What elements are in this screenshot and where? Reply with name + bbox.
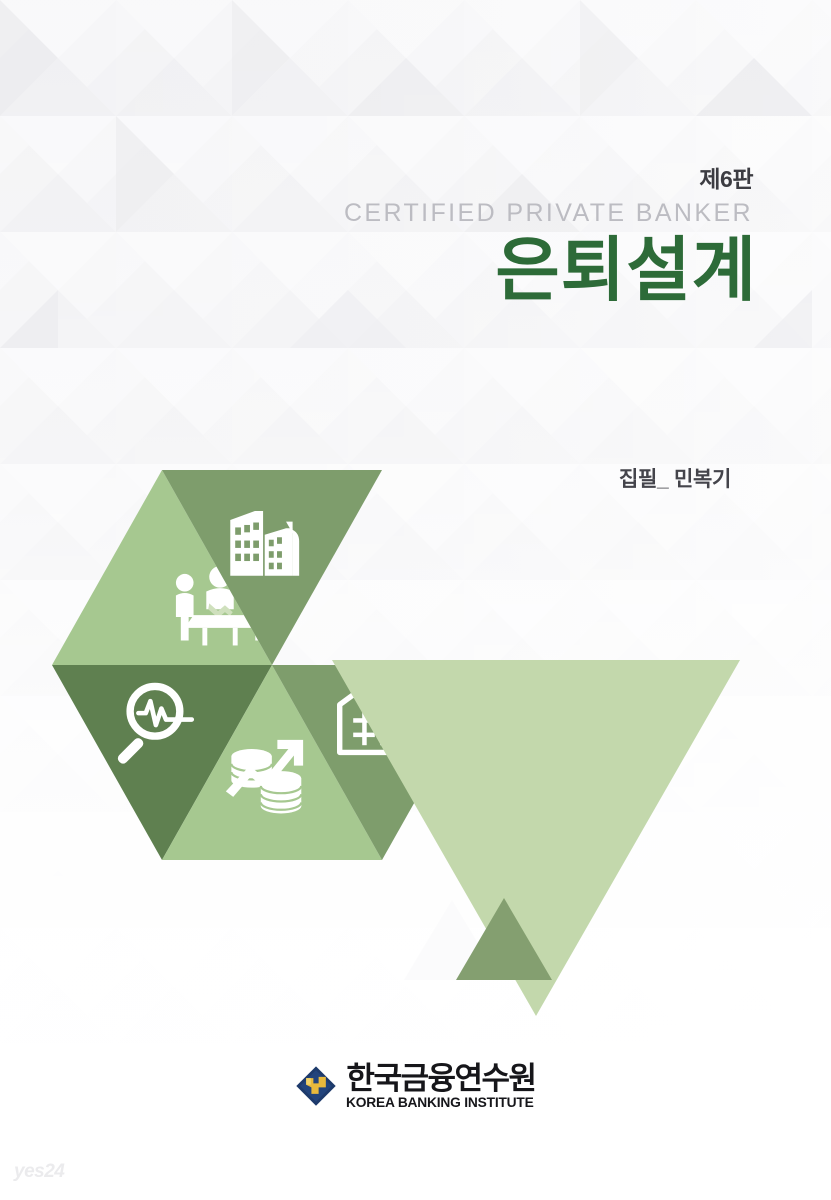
triangle-mosaic-graphic (52, 460, 762, 1020)
diamond-logo-icon (295, 1065, 337, 1107)
edition-label: 제6판 (699, 160, 753, 194)
publisher-name-kr: 한국금융연수원 (346, 1063, 535, 1094)
site-watermark: yes24 (14, 1161, 64, 1183)
page-title: 은퇴설계 (495, 232, 757, 309)
book-cover: 제6판 CERTIFIED PRIVATE BANKER 은퇴설계 집필_ 민복… (0, 0, 831, 1200)
publisher-name-en: KOREA BANKING INSTITUTE (346, 1096, 534, 1110)
publisher-logo: 한국금융연수원 KOREA BANKING INSTITUTE (0, 1063, 831, 1110)
cover-subtitle: CERTIFIED PRIVATE BANKER (344, 199, 753, 228)
